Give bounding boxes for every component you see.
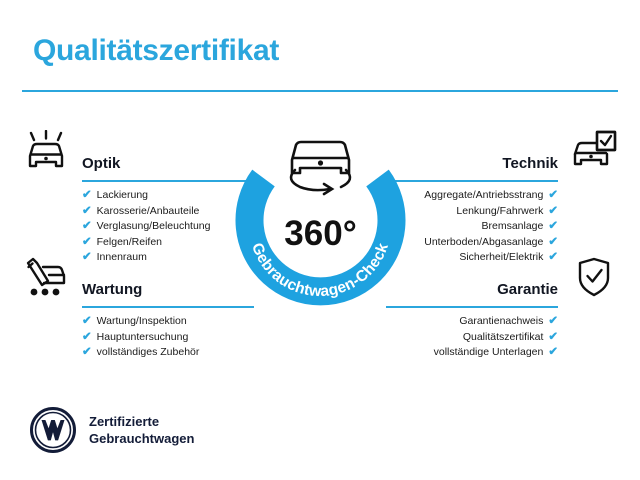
header-divider (22, 90, 618, 92)
car-rotate-360-icon (291, 142, 350, 194)
check-icon: ✔ (548, 206, 558, 218)
list-item: ✔Bremsanlage (386, 219, 618, 235)
list-item-label: Lenkung/Fahrwerk (456, 204, 543, 220)
section-title: Optik (82, 155, 120, 172)
certificate-page: Qualitätszertifikat Optik (0, 0, 640, 480)
section-optik: Optik ✔Lackierung ✔Karosserie/Anbauteile… (22, 130, 254, 178)
section-header: Optik (22, 130, 254, 178)
badge-center-label: 360° (284, 214, 356, 253)
section-item-list: ✔Garantienachweis ✔Qualitätszertifikat ✔… (386, 314, 618, 361)
car-service-pen-icon (22, 256, 70, 300)
footer-line-2: Gebrauchtwagen (89, 431, 194, 446)
list-item-label: Verglasung/Beleuchtung (97, 219, 211, 235)
section-underline (386, 306, 558, 308)
section-header: Wartung (22, 256, 254, 304)
section-underline (82, 180, 254, 182)
list-item-label: Lackierung (97, 188, 148, 204)
section-wartung: Wartung ✔Wartung/Inspektion ✔Hauptunters… (22, 256, 254, 304)
shield-check-icon (570, 256, 618, 300)
list-item: ✔Karosserie/Anbauteile (22, 204, 254, 220)
list-item-label: Hauptuntersuchung (97, 330, 189, 346)
check-icon: ✔ (82, 237, 92, 249)
check-icon: ✔ (82, 347, 92, 359)
section-technik: Technik ✔Aggregate/Antriebsstrang ✔Lenku… (386, 130, 618, 178)
footer-brand: Zertifizierte Gebrauchtwagen (29, 406, 194, 454)
list-item-label: Wartung/Inspektion (97, 314, 187, 330)
section-item-list: ✔Aggregate/Antriebsstrang ✔Lenkung/Fahrw… (386, 188, 618, 266)
section-title: Garantie (497, 281, 558, 298)
section-title: Technik (502, 155, 558, 172)
list-item: ✔Aggregate/Antriebsstrang (386, 188, 618, 204)
list-item-label: Qualitätszertifikat (463, 330, 544, 346)
check-icon: ✔ (82, 206, 92, 218)
list-item: ✔Lackierung (22, 188, 254, 204)
list-item-label: Felgen/Reifen (97, 235, 162, 251)
list-item: ✔Qualitätszertifikat (386, 330, 618, 346)
footer-text: Zertifizierte Gebrauchtwagen (89, 413, 194, 447)
check-icon: ✔ (548, 347, 558, 359)
check-icon: ✔ (82, 332, 92, 344)
list-item-label: Unterboden/Abgasanlage (424, 235, 543, 251)
check-icon: ✔ (548, 316, 558, 328)
page-title: Qualitätszertifikat (33, 34, 279, 68)
check-icon: ✔ (548, 332, 558, 344)
check-icon: ✔ (548, 190, 558, 202)
list-item: ✔Verglasung/Beleuchtung (22, 219, 254, 235)
section-item-list: ✔Lackierung ✔Karosserie/Anbauteile ✔Verg… (22, 188, 254, 266)
section-item-list: ✔Wartung/Inspektion ✔Hauptuntersuchung ✔… (22, 314, 254, 361)
badge-360-gebrauchtwagen-check: 360° Gebrauchtwagen-Check (233, 118, 408, 308)
list-item: ✔Lenkung/Fahrwerk (386, 204, 618, 220)
section-header: Garantie (386, 256, 618, 304)
check-icon: ✔ (548, 221, 558, 233)
list-item-label: vollständiges Zubehör (97, 345, 200, 361)
list-item: ✔Unterboden/Abgasanlage (386, 235, 618, 251)
list-item: ✔Hauptuntersuchung (22, 330, 254, 346)
vw-logo (29, 406, 77, 454)
section-title: Wartung (82, 281, 142, 298)
car-shine-icon (22, 130, 70, 174)
list-item: ✔Wartung/Inspektion (22, 314, 254, 330)
section-underline (386, 180, 558, 182)
list-item: ✔Felgen/Reifen (22, 235, 254, 251)
list-item-label: Garantienachweis (459, 314, 543, 330)
section-header: Technik (386, 130, 618, 178)
check-icon: ✔ (82, 316, 92, 328)
list-item: ✔Garantienachweis (386, 314, 618, 330)
list-item: ✔vollständiges Zubehör (22, 345, 254, 361)
section-underline (82, 306, 254, 308)
list-item-label: vollständige Unterlagen (434, 345, 544, 361)
list-item-label: Karosserie/Anbauteile (97, 204, 200, 220)
check-icon: ✔ (548, 237, 558, 249)
list-item: ✔vollständige Unterlagen (386, 345, 618, 361)
footer-line-1: Zertifizierte (89, 414, 159, 429)
check-icon: ✔ (82, 221, 92, 233)
check-icon: ✔ (82, 190, 92, 202)
section-garantie: Garantie ✔Garantienachweis ✔Qualitätszer… (386, 256, 618, 304)
car-checkbox-icon (570, 130, 618, 174)
list-item-label: Bremsanlage (481, 219, 543, 235)
list-item-label: Aggregate/Antriebsstrang (424, 188, 543, 204)
